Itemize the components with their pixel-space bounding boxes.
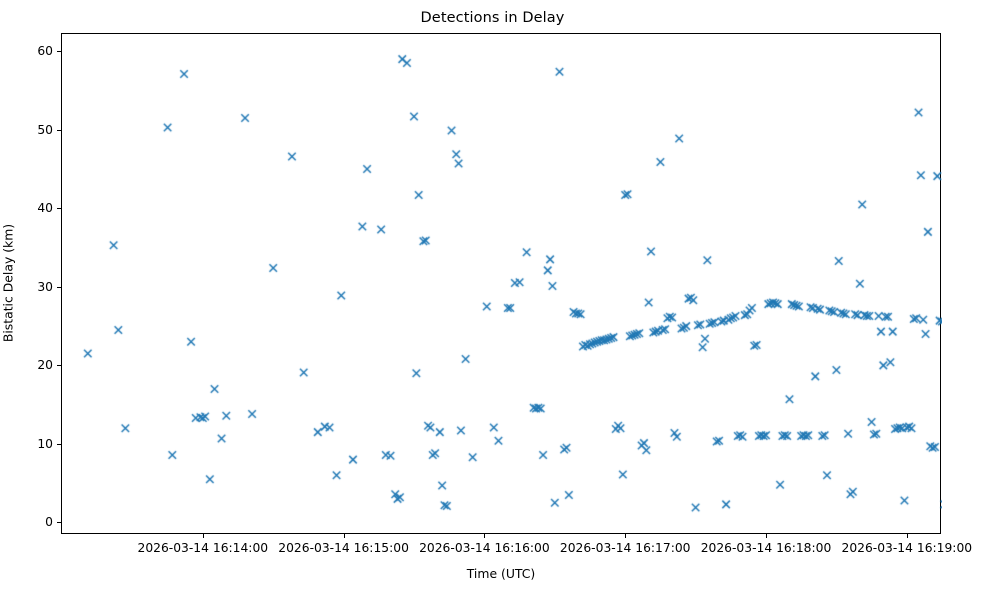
figure-scatter-detections-in-delay: Detections in Delay 0102030405060 2026-0…	[0, 0, 985, 590]
y-tick-mark	[57, 365, 62, 366]
x-tick-mark	[907, 533, 908, 538]
plot-axes: 0102030405060 2026-03-14 16:14:002026-03…	[61, 33, 941, 534]
y-tick-label: 30	[37, 280, 53, 294]
y-tick-mark	[57, 444, 62, 445]
chart-title: Detections in Delay	[0, 10, 985, 26]
x-tick-label: 2026-03-14 16:14:00	[137, 541, 268, 555]
y-tick-mark	[57, 287, 62, 288]
y-axis-label: Bistatic Delay (km)	[1, 224, 16, 342]
x-tick-label: 2026-03-14 16:15:00	[278, 541, 409, 555]
y-tick-mark	[57, 130, 62, 131]
x-tick-mark	[766, 533, 767, 538]
y-tick-mark	[57, 522, 62, 523]
y-tick-mark	[57, 208, 62, 209]
y-tick-label: 20	[37, 358, 53, 372]
scatter-plot-canvas	[62, 34, 942, 535]
x-axis-label: Time (UTC)	[61, 566, 941, 581]
y-tick-label: 50	[37, 123, 53, 137]
x-tick-label: 2026-03-14 16:16:00	[419, 541, 550, 555]
x-tick-mark	[484, 533, 485, 538]
x-tick-label: 2026-03-14 16:19:00	[841, 541, 972, 555]
x-tick-mark	[203, 533, 204, 538]
y-tick-label: 10	[37, 437, 53, 451]
y-tick-label: 0	[45, 515, 53, 529]
x-tick-mark	[344, 533, 345, 538]
y-tick-label: 60	[37, 44, 53, 58]
x-tick-label: 2026-03-14 16:18:00	[701, 541, 832, 555]
x-tick-mark	[625, 533, 626, 538]
y-tick-mark	[57, 51, 62, 52]
x-tick-label: 2026-03-14 16:17:00	[560, 541, 691, 555]
y-tick-label: 40	[37, 201, 53, 215]
